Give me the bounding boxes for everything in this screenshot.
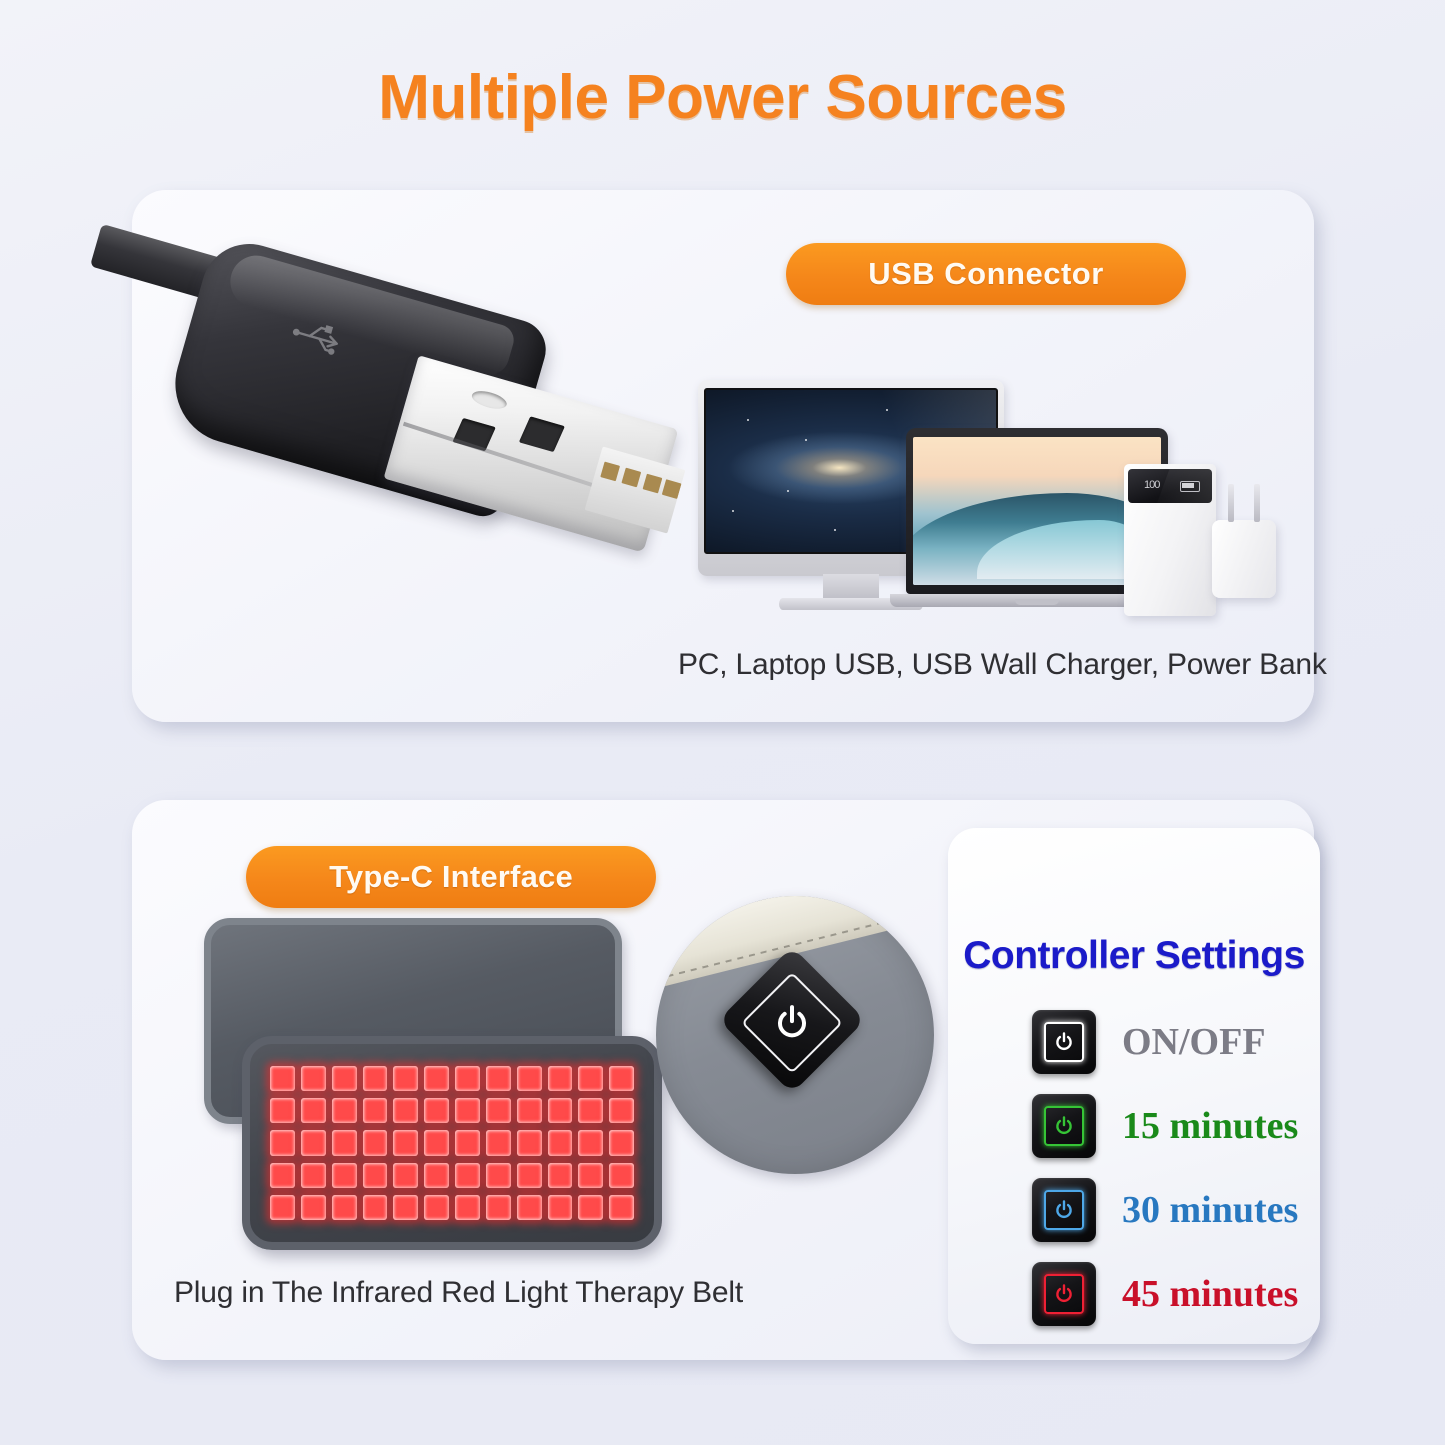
led-dot [548,1066,573,1091]
led-dot [332,1098,357,1123]
led-dot [393,1163,418,1188]
mode-label: 45 minutes [1122,1272,1298,1316]
controller-mode-row[interactable]: 15 minutes [1032,1084,1322,1168]
led-dot [301,1195,326,1220]
led-dot [609,1163,634,1188]
led-dot [424,1066,449,1091]
led-dot [548,1163,573,1188]
controller-mode-row[interactable]: ON/OFF [1032,1000,1322,1084]
led-dot [578,1066,603,1091]
led-dot [270,1130,295,1155]
mode-label: 15 minutes [1122,1104,1298,1148]
led-dot [455,1066,480,1091]
wall-charger-icon [1212,520,1276,598]
led-dot [301,1066,326,1091]
led-dot [455,1195,480,1220]
charger-prong [1228,484,1234,522]
led-dot [578,1130,603,1155]
mode-power-button[interactable] [1032,1094,1096,1158]
power-button-frame [1044,1274,1084,1314]
therapy-belt-led-panel [242,1036,662,1250]
led-dot [517,1130,542,1155]
power-button-magnified[interactable] [718,946,865,1093]
mode-power-button[interactable] [1032,1262,1096,1326]
led-dot [517,1195,542,1220]
led-dot [486,1163,511,1188]
led-dot [578,1195,603,1220]
power-button-frame [1044,1190,1084,1230]
led-dot [424,1163,449,1188]
led-grid [270,1066,634,1220]
led-dot [486,1130,511,1155]
led-dot [363,1195,388,1220]
led-dot [270,1098,295,1123]
led-dot [363,1098,388,1123]
led-dot [301,1098,326,1123]
led-dot [517,1163,542,1188]
led-dot [332,1163,357,1188]
led-dot [486,1066,511,1091]
power-button-closeup [656,896,934,1174]
led-dot [270,1163,295,1188]
power-bank-display: 100 [1128,469,1212,503]
led-dot [548,1195,573,1220]
usb-plug-seam [403,422,623,497]
led-dot [393,1195,418,1220]
power-bank-icon: 100 [1124,464,1216,616]
led-dot [363,1163,388,1188]
controller-settings-panel: Controller Settings ON/OFF15 minutes30 m… [948,828,1320,1344]
led-dot [332,1195,357,1220]
controller-mode-row[interactable]: 30 minutes [1032,1168,1322,1252]
infographic-canvas: Multiple Power Sources [0,0,1445,1445]
controller-settings-title: Controller Settings [948,934,1320,978]
power-bank-level: 100 [1144,479,1159,491]
mode-label: 30 minutes [1122,1188,1298,1232]
led-dot [517,1098,542,1123]
power-button-frame [1044,1106,1084,1146]
led-dot [424,1195,449,1220]
mode-power-button[interactable] [1032,1178,1096,1242]
led-dot [609,1098,634,1123]
badge-usb-connector[interactable]: USB Connector [786,243,1186,305]
led-dot [548,1130,573,1155]
led-dot [363,1066,388,1091]
led-dot [517,1066,542,1091]
led-dot [455,1130,480,1155]
led-dot [609,1130,634,1155]
led-dot [332,1130,357,1155]
usb-plug-oval [470,388,509,412]
led-dot [270,1066,295,1091]
usb-devices-caption: PC, Laptop USB, USB Wall Charger, Power … [678,648,1327,682]
led-dot [609,1195,634,1220]
laptop-notch [1015,599,1059,605]
led-dot [393,1066,418,1091]
therapy-belt-caption: Plug in The Infrared Red Light Therapy B… [174,1276,743,1310]
led-dot [332,1066,357,1091]
led-dot [424,1130,449,1155]
mode-label: ON/OFF [1122,1020,1266,1064]
led-dot [393,1130,418,1155]
led-dot [455,1163,480,1188]
led-dot [301,1130,326,1155]
led-dot [301,1163,326,1188]
led-dot [578,1163,603,1188]
usb-plug-slot [519,416,565,452]
compatible-devices-group: 100 [692,372,1272,634]
controller-mode-row[interactable]: 45 minutes [1032,1252,1322,1336]
page-title: Multiple Power Sources [0,62,1445,133]
led-dot [424,1098,449,1123]
led-dot [393,1098,418,1123]
therapy-belt-group [196,918,676,1258]
led-dot [578,1098,603,1123]
usb-connector-icon [96,205,656,585]
led-dot [363,1130,388,1155]
led-dot [270,1195,295,1220]
led-dot [455,1098,480,1123]
mode-power-button[interactable] [1032,1010,1096,1074]
charger-prong [1254,484,1260,522]
power-button-frame [741,972,843,1074]
badge-type-c-interface[interactable]: Type-C Interface [246,846,656,908]
led-dot [609,1066,634,1091]
power-button-frame [1044,1022,1084,1062]
led-dot [486,1098,511,1123]
led-dot [548,1098,573,1123]
led-dot [486,1195,511,1220]
